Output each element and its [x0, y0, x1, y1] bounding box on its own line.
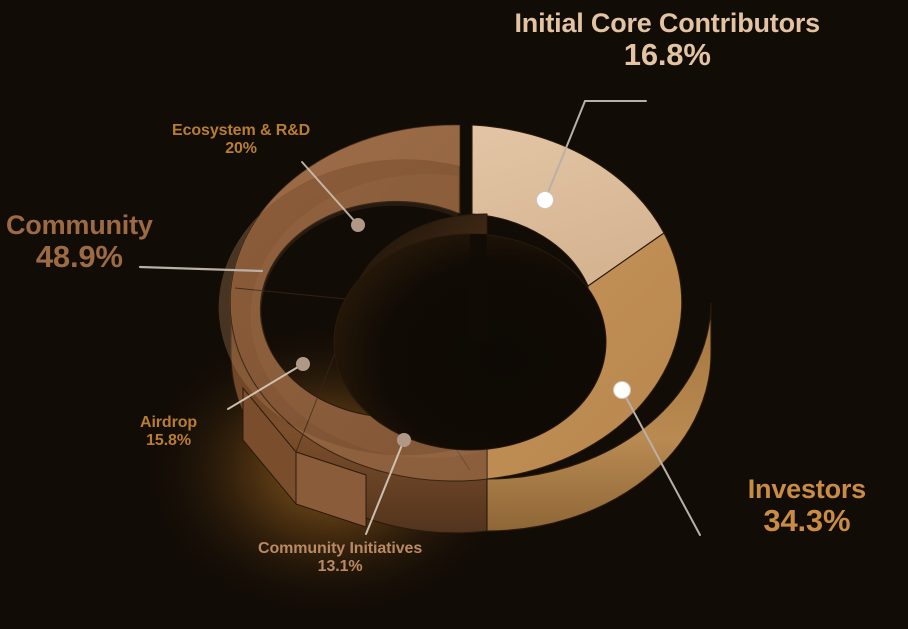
- marker-community-initiatives: [397, 433, 411, 447]
- callout-label-community: Community 48.9%: [6, 210, 153, 275]
- callout-name-ecosystem-rd: Ecosystem & R&D: [172, 122, 310, 140]
- callout-name-airdrop: Airdrop: [140, 414, 197, 432]
- callout-name-community-initiatives: Community Initiatives: [258, 540, 422, 558]
- callout-label-initial-core-contributors: Initial Core Contributors 16.8%: [514, 8, 820, 73]
- callout-name-investors: Investors: [748, 474, 866, 504]
- callout-percent-ecosystem-rd: 20%: [172, 140, 310, 158]
- callout-percent-initial-core-contributors: 16.8%: [514, 38, 820, 73]
- callout-name-initial-core-contributors: Initial Core Contributors: [514, 8, 820, 38]
- marker-ecosystem-rd: [351, 218, 365, 232]
- chart-canvas: Initial Core Contributors 16.8% Investor…: [0, 0, 908, 629]
- callout-percent-community-initiatives: 13.1%: [258, 558, 422, 576]
- callout-percent-investors: 34.3%: [748, 504, 866, 539]
- marker-initial-core-contributors: [537, 192, 554, 209]
- marker-airdrop: [296, 357, 310, 371]
- callout-label-ecosystem-rd: Ecosystem & R&D 20%: [172, 122, 310, 158]
- marker-investors: [614, 382, 631, 399]
- callout-label-investors: Investors 34.3%: [748, 474, 866, 539]
- callout-percent-airdrop: 15.8%: [140, 432, 197, 450]
- callout-label-airdrop: Airdrop 15.8%: [140, 414, 197, 450]
- callout-name-community: Community: [6, 210, 153, 240]
- callout-percent-community: 48.9%: [6, 240, 153, 275]
- callout-label-community-initiatives: Community Initiatives 13.1%: [258, 540, 422, 576]
